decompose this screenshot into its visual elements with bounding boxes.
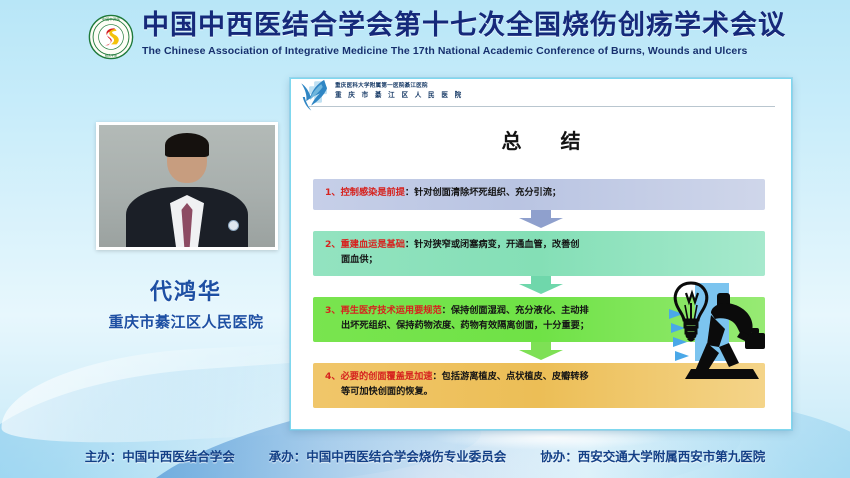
conference-title-cn: 中国中西医结合学会第十七次全国烧伤创疡学术会议 bbox=[142, 10, 782, 42]
summary-point-4-lead: 必要的创面覆盖是加速 bbox=[341, 371, 433, 382]
presenter-panel: 代鸿华 重庆市綦江区人民医院 bbox=[96, 122, 276, 332]
presentation-slide[interactable]: 重庆医科大学附属第一医院綦江医院 重 庆 市 綦 江 区 人 民 医 院 总 结… bbox=[290, 78, 792, 430]
summary-point-3-body: 保持创面湿润、充分液化、主动排 bbox=[451, 305, 589, 316]
slide-org-line2: 重 庆 市 綦 江 区 人 民 医 院 bbox=[335, 90, 565, 100]
summary-point-3-index: 3、 bbox=[325, 305, 341, 316]
summary-point-2-lead: 重建血运是基础 bbox=[341, 239, 405, 250]
arrow-box3-to-box4 bbox=[519, 342, 563, 360]
conference-title-en: The Chinese Association of Integrative M… bbox=[142, 43, 782, 59]
svg-text:结合学会: 结合学会 bbox=[105, 52, 117, 57]
summary-point-4-body2: 等可加快创面的恢复。 bbox=[325, 384, 755, 399]
slide-header-divider bbox=[309, 106, 775, 107]
presenter-hair bbox=[165, 133, 209, 157]
summary-point-1-body: 针对创面清除坏死组织、充分引流； bbox=[414, 187, 561, 198]
summary-point-4-colon: ： bbox=[432, 371, 441, 382]
summary-point-3-lead: 再生医疗技术运用要规范 bbox=[341, 305, 442, 316]
summary-point-3-colon: ： bbox=[442, 305, 451, 316]
summary-point-1-index: 1、 bbox=[325, 187, 341, 198]
summary-point-2-index: 2、 bbox=[325, 239, 341, 250]
svg-text:中国中西医: 中国中西医 bbox=[102, 16, 121, 21]
summary-point-2-body: 针对狭窄或闭塞病变，开通血管，改善创 bbox=[414, 239, 579, 250]
arrow-head bbox=[519, 218, 563, 228]
summary-point-2: 2、重建血运是基础：针对狭窄或闭塞病变，开通血管，改善创 面血供； bbox=[313, 231, 765, 276]
blue-dove-hospital-logo-icon bbox=[295, 78, 339, 117]
webinar-stage: 中国中西医 结合学会 中国中西医结合学会第十七次全国烧伤创疡学术会议 The C… bbox=[0, 0, 850, 478]
arrow-head bbox=[519, 284, 563, 294]
footer-undertaker: 承办：中国中西医结合学会烧伤专业委员会 bbox=[269, 446, 507, 465]
slide-canvas: 重庆医科大学附属第一医院綦江医院 重 庆 市 綦 江 区 人 民 医 院 总 结… bbox=[291, 79, 791, 429]
presenter-lapel-badge bbox=[228, 220, 239, 231]
presenter-organization: 重庆市綦江区人民医院 bbox=[96, 311, 276, 332]
summary-point-1-colon: ： bbox=[405, 187, 414, 198]
presenter-video-feed[interactable] bbox=[96, 122, 278, 250]
conference-footer: 主办：中国中西医结合学会 承办：中国中西医结合学会烧伤专业委员会 协办：西安交通… bbox=[0, 432, 850, 478]
arrow-box1-to-box2 bbox=[519, 210, 563, 228]
summary-point-2-body2: 面血供； bbox=[325, 252, 755, 267]
caim-circular-emblem-icon: 中国中西医 结合学会 bbox=[88, 14, 134, 60]
arrow-head bbox=[519, 350, 563, 360]
presenter-name: 代鸿华 bbox=[96, 274, 276, 306]
summary-point-4-index: 4、 bbox=[325, 371, 341, 382]
businessman-carrying-lightbulb-icon bbox=[667, 275, 777, 383]
slide-organization-block: 重庆医科大学附属第一医院綦江医院 重 庆 市 綦 江 区 人 民 医 院 bbox=[335, 82, 565, 100]
conference-header: 中国中西医 结合学会 中国中西医结合学会第十七次全国烧伤创疡学术会议 The C… bbox=[0, 0, 850, 70]
slide-org-line1: 重庆医科大学附属第一医院綦江医院 bbox=[335, 82, 565, 90]
footer-organizer: 主办：中国中西医结合学会 bbox=[85, 446, 235, 465]
summary-point-2-colon: ： bbox=[405, 239, 414, 250]
conference-title-block: 中国中西医结合学会第十七次全国烧伤创疡学术会议 The Chinese Asso… bbox=[142, 10, 782, 59]
slide-title: 总 结 bbox=[291, 125, 791, 154]
arrow-box2-to-box3 bbox=[519, 276, 563, 294]
summary-point-4-body: 包括游离植皮、点状植皮、皮瓣转移 bbox=[442, 371, 589, 382]
summary-point-1: 1、控制感染是前提：针对创面清除坏死组织、充分引流； bbox=[313, 179, 765, 210]
summary-point-1-lead: 控制感染是前提 bbox=[341, 187, 405, 198]
footer-coorganizer: 协办：西安交通大学附属西安市第九医院 bbox=[540, 446, 765, 465]
slide-header: 重庆医科大学附属第一医院綦江医院 重 庆 市 綦 江 区 人 民 医 院 bbox=[291, 79, 791, 109]
